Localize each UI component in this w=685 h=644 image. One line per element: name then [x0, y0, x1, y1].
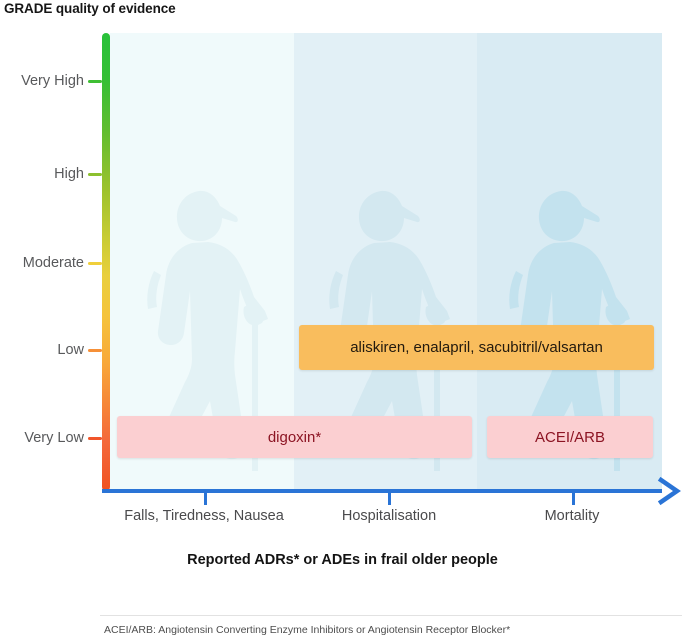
xlabel-mortality: Mortality [545, 508, 600, 524]
xlabel-falls-tiredness-nausea: Falls, Tiredness, Nausea [124, 508, 284, 524]
xtick-hospitalisation [388, 493, 391, 505]
ytick-moderate [88, 262, 102, 265]
footnote-text: ACEI/ARB: Angiotensin Converting Enzyme … [104, 624, 510, 636]
xtick-falls [204, 493, 207, 505]
evidence-box-digoxin[interactable]: digoxin* [117, 416, 472, 458]
ytick-very-low [88, 437, 102, 440]
xlabel-hospitalisation: Hospitalisation [342, 508, 436, 524]
grade-evidence-figure: GRADE quality of evidence [0, 0, 685, 644]
x-axis-arrow-icon [655, 472, 685, 510]
ylabel-moderate: Moderate [2, 255, 84, 271]
evidence-box-acei-arb[interactable]: ACEI/ARB [487, 416, 653, 458]
xtick-mortality [572, 493, 575, 505]
x-axis-line [102, 489, 662, 493]
ylabel-very-high: Very High [2, 73, 84, 89]
ylabel-very-low: Very Low [2, 430, 84, 446]
grade-gradient-bar [102, 33, 110, 491]
ylabel-high: High [2, 166, 84, 182]
footnote-divider [100, 615, 682, 616]
x-axis-caption: Reported ADRs* or ADEs in frail older pe… [0, 552, 685, 568]
evidence-box-aliskiren[interactable]: aliskiren, enalapril, sacubitril/valsart… [299, 325, 654, 370]
ylabel-low: Low [2, 342, 84, 358]
ytick-very-high [88, 80, 102, 83]
ytick-high [88, 173, 102, 176]
ytick-low [88, 349, 102, 352]
figure-title: GRADE quality of evidence [4, 1, 176, 16]
